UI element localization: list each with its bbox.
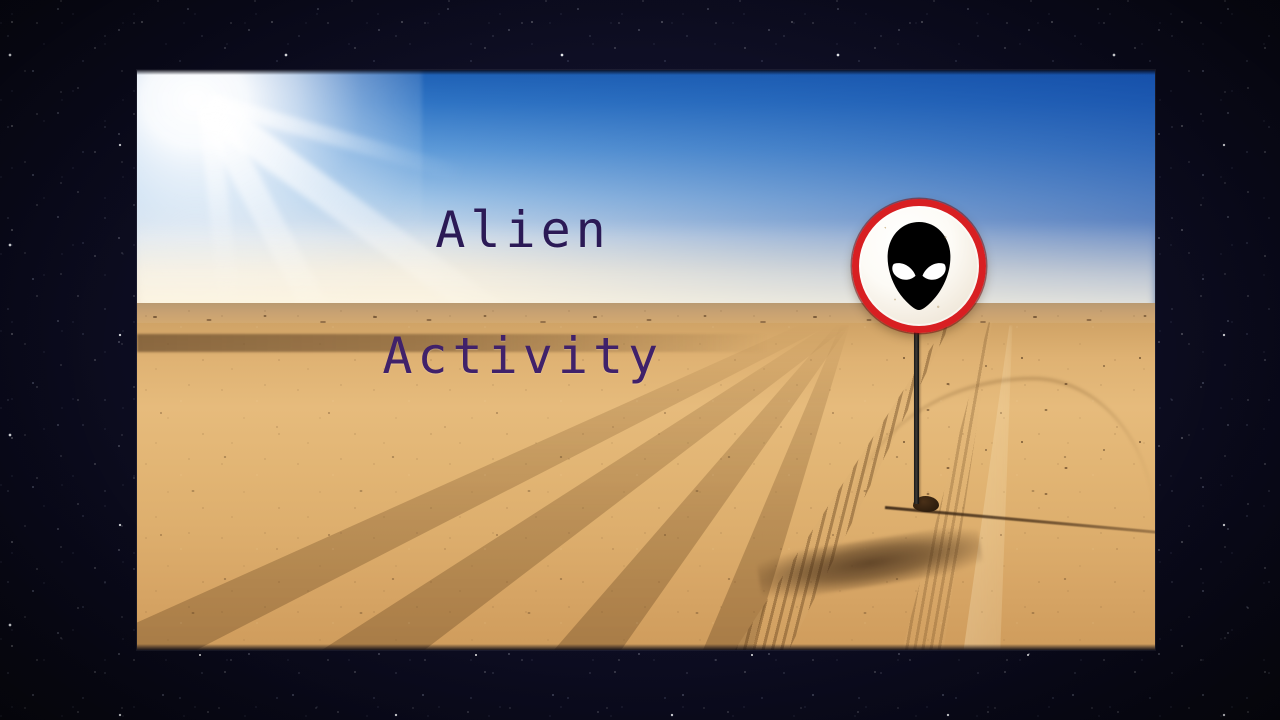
desert-photo: Alien Activity bbox=[137, 70, 1155, 650]
title-line-1: Alien bbox=[435, 201, 611, 259]
alien-crossing-sign[interactable] bbox=[852, 199, 986, 333]
sign-disc bbox=[852, 199, 986, 333]
alien-head-icon bbox=[884, 219, 954, 313]
horizon-haze bbox=[137, 221, 1155, 314]
slide-canvas: Alien Activity bbox=[0, 0, 1280, 720]
title-line-2: Activity bbox=[382, 327, 663, 385]
